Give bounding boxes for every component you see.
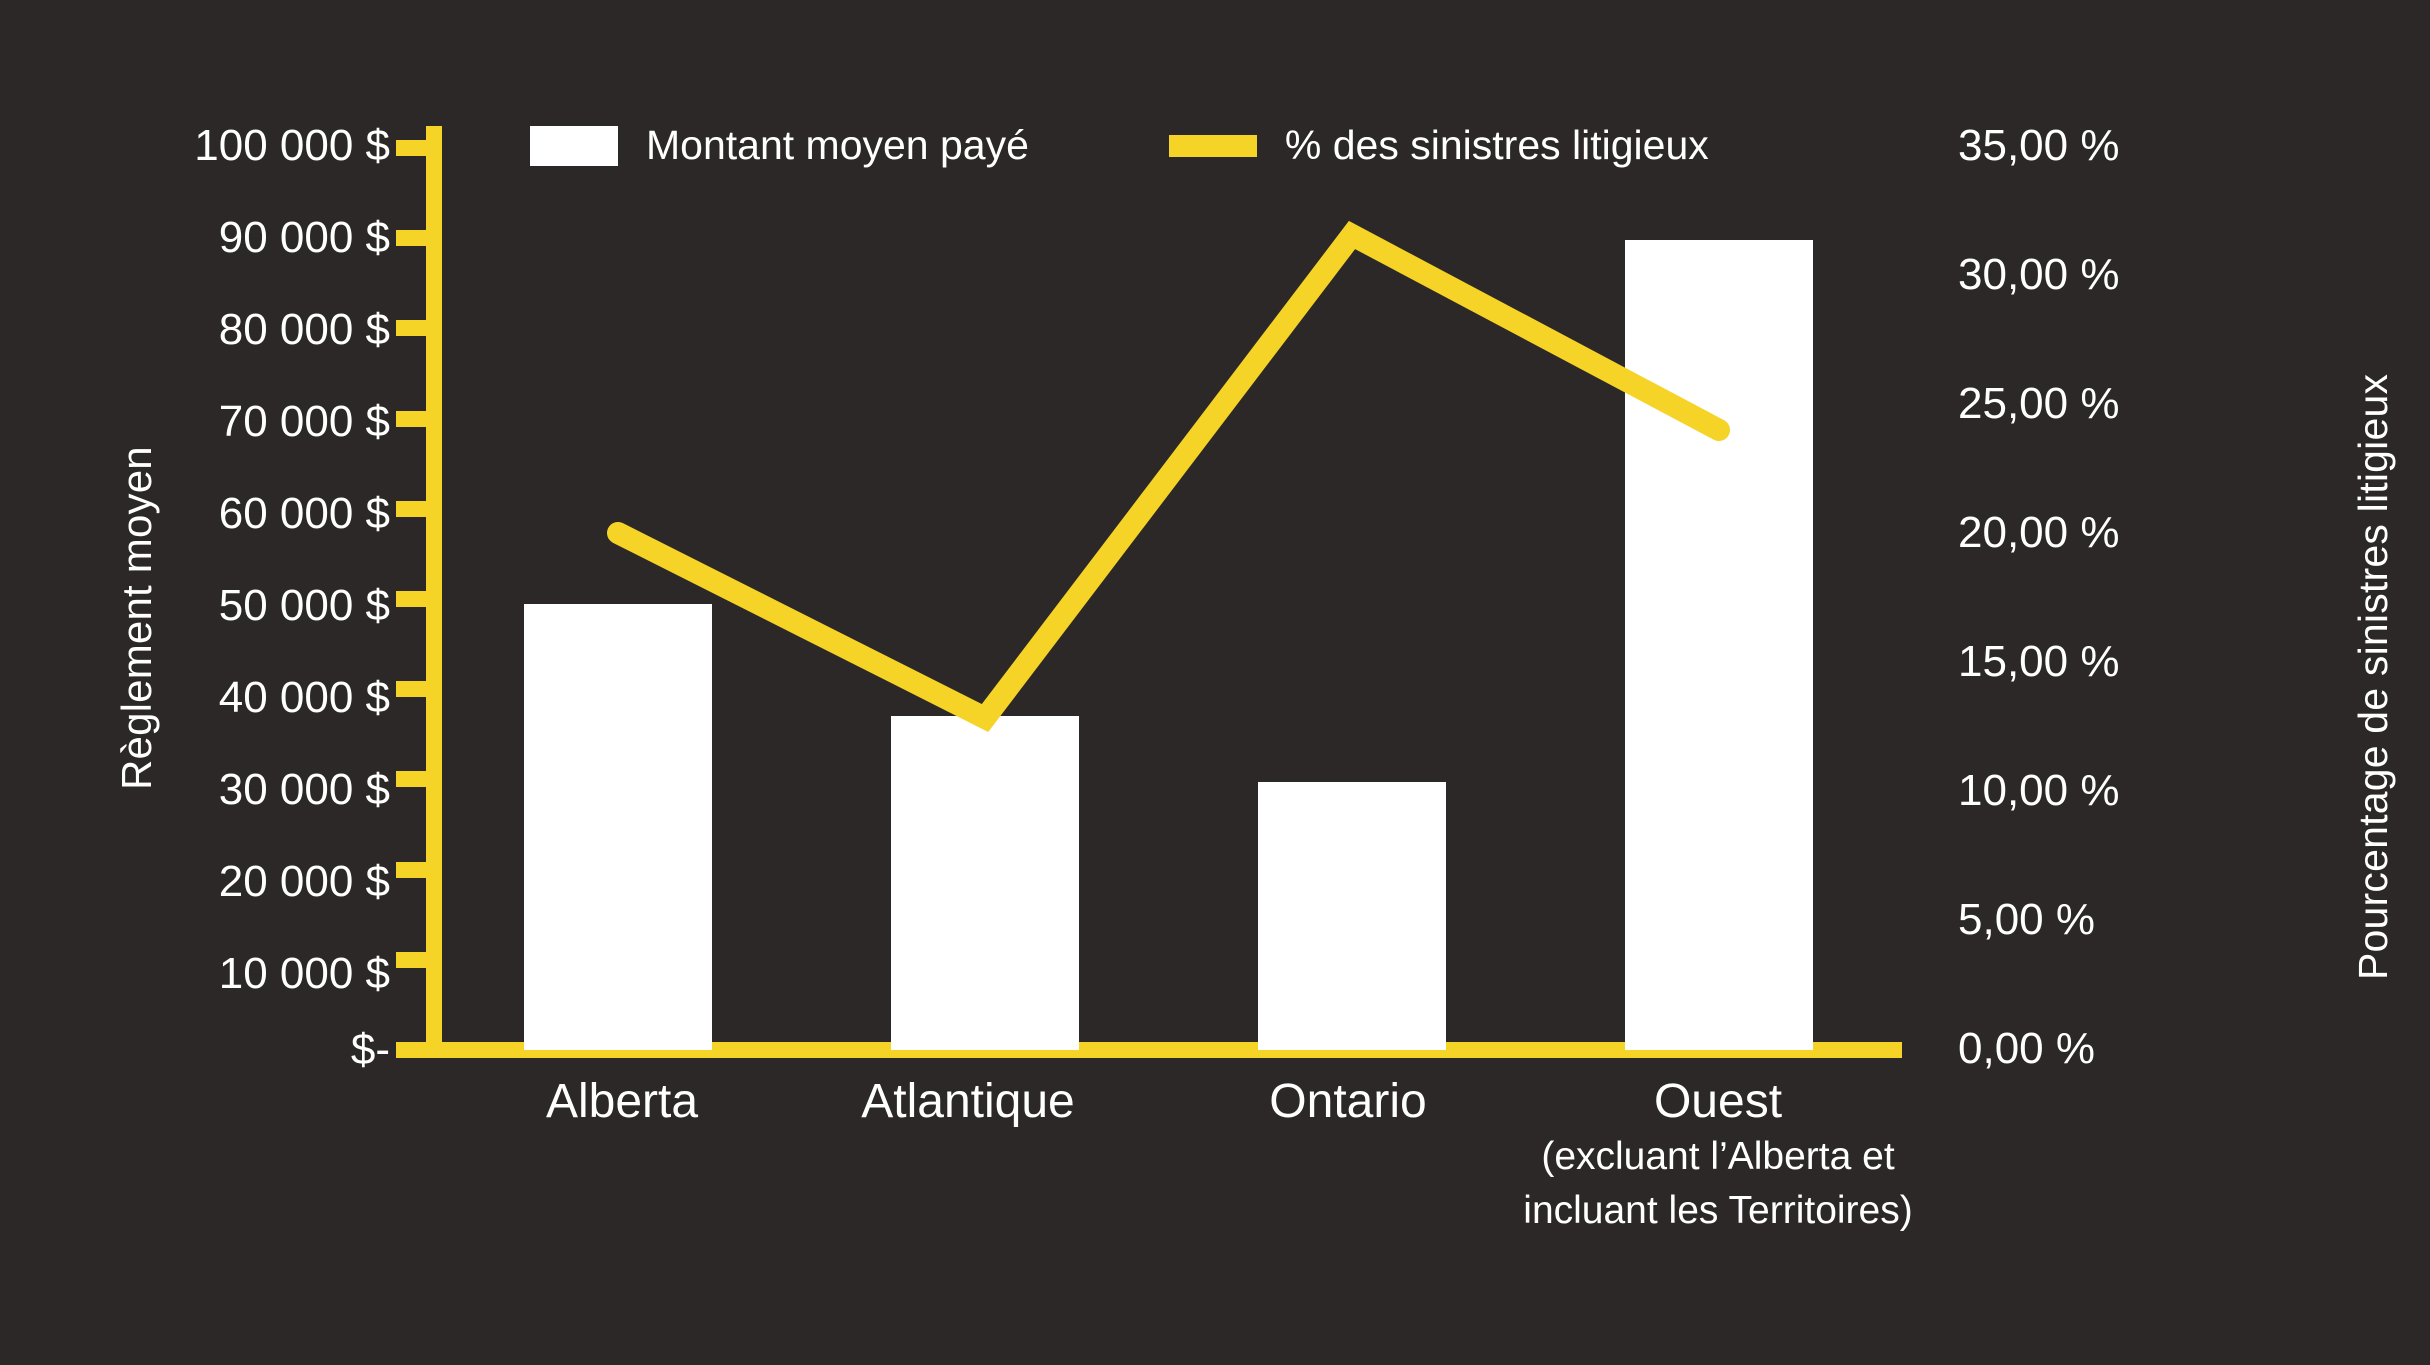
x-axis-label-atlantique: Atlantique bbox=[861, 1078, 1075, 1126]
x-axis-label-alberta: Alberta bbox=[546, 1078, 698, 1126]
bar-alberta[interactable] bbox=[524, 604, 712, 1050]
bar-ontario[interactable] bbox=[1258, 782, 1446, 1050]
chart-container: Règlement moyen Pourcentage de sinistres… bbox=[0, 0, 2430, 1365]
x-axis-label-ontario: Ontario bbox=[1269, 1078, 1426, 1126]
plot-area bbox=[0, 0, 2430, 1365]
bar-ouest[interactable] bbox=[1625, 240, 1813, 1050]
cat-label-line1: Ouest bbox=[1654, 1075, 1782, 1128]
cat-label-line3: incluant les Territoires) bbox=[1523, 1188, 1912, 1234]
cat-label-line1: Alberta bbox=[546, 1075, 698, 1128]
x-axis-label-ouest: Ouest (excluant l’Alberta et incluant le… bbox=[1523, 1078, 1912, 1234]
bar-series bbox=[524, 240, 1813, 1050]
cat-label-line1: Ontario bbox=[1269, 1075, 1426, 1128]
cat-label-line2: (excluant l’Alberta et bbox=[1523, 1134, 1912, 1180]
y-axis-spine bbox=[426, 126, 442, 1050]
line-series bbox=[618, 235, 1719, 718]
cat-label-line1: Atlantique bbox=[861, 1075, 1075, 1128]
bar-atlantique[interactable] bbox=[891, 716, 1079, 1050]
